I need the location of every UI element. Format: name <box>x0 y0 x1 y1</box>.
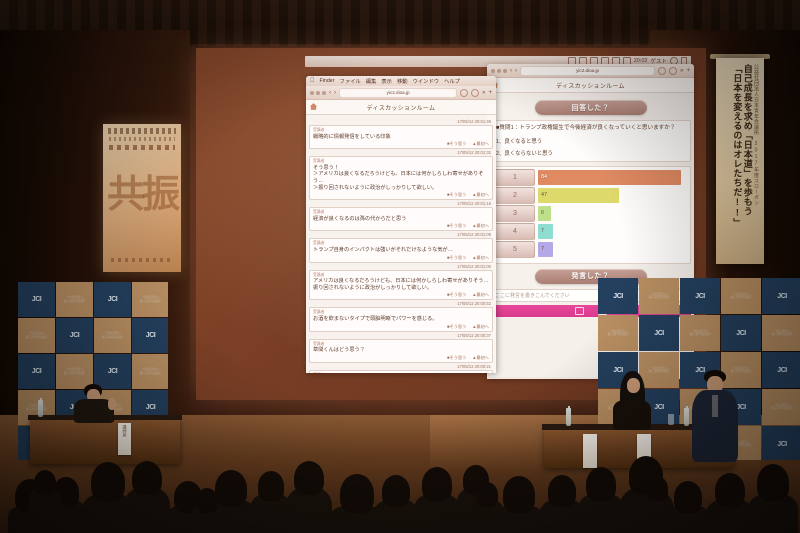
poll-page-header: ディスカッションルーム <box>487 78 694 93</box>
post-author: 受講者 <box>313 273 489 278</box>
menu-go[interactable]: 移動 <box>397 77 408 85</box>
jci-org-text: 一般社団法人 都心青年会議所 <box>140 296 161 303</box>
show-tabs-icon[interactable]: » <box>680 68 683 74</box>
address-bar-back[interactable]: yic2.dioa.jp <box>520 66 655 76</box>
jci-org-text: 一般社団法人 都心青年会議所 <box>730 367 751 374</box>
conference-hall-photo: 共振 公益社団法人日本青年会議所 2017年度スローガン 自己成長を求め「日本道… <box>0 0 800 533</box>
poll-result-row: 57 <box>495 242 686 257</box>
jci-org-tile: 一般社団法人 都心青年会議所 <box>639 278 679 314</box>
panelist-female-body <box>613 400 651 430</box>
top-link[interactable]: ▲最初へ <box>472 292 489 298</box>
discussion-post[interactable]: 受講者草間くんはどう思う？■そう思う▲最初へ <box>309 339 493 363</box>
audience-member <box>374 463 418 533</box>
poster-footer-lines <box>111 258 173 262</box>
jci-org-tile: 一般社団法人 都心青年会議所 <box>762 389 800 425</box>
discussion-post[interactable]: 受講者戦略的に情報発信をしている印象■そう思う▲最初へ <box>309 125 493 149</box>
url-text-front: yic2.dioa.jp <box>387 90 410 95</box>
water-bottle <box>38 400 43 417</box>
question-text: ■質問1：トランプ政権誕生で今後経済が良くなっていくと思いますか？ <box>496 125 685 133</box>
post-timestamp: 17/05/12 20:00:52 <box>309 301 493 306</box>
post-text: 経済が良くなるのは孫の代からだと思う <box>313 216 489 223</box>
audience-head <box>715 473 745 508</box>
post-author: 受講者 <box>313 128 489 133</box>
plus-icon[interactable]: + <box>686 68 690 74</box>
poll-result-row: 247 <box>495 188 686 203</box>
jci-org-tile: 一般社団法人 都心青年会議所 <box>18 318 55 353</box>
post-text: ＞振り回されないように政治がしっかりして欲しい。 <box>313 185 489 192</box>
poll-choice-label[interactable]: 2 <box>495 187 535 204</box>
placard-text: 講師席 <box>122 425 128 437</box>
jci-logo-tile: JCI <box>680 278 720 314</box>
poll-results-chart: 184247364757 <box>490 166 691 264</box>
plus-icon[interactable]: + <box>488 90 492 96</box>
audience-head <box>674 481 702 513</box>
jci-logo-text: JCI <box>613 367 622 374</box>
post-author: 受講者 <box>313 310 489 315</box>
top-link[interactable]: ▲最初へ <box>472 255 489 261</box>
jci-logo-tile: JCI <box>18 354 55 389</box>
jci-org-text: 一般社団法人 都心青年会議所 <box>607 330 628 337</box>
post-text: アメリカは良くなるだろうけども、日本には何かしらしわ寄せがありそう… <box>313 278 489 285</box>
jci-logo-tile: JCI <box>94 354 131 389</box>
audience-member <box>470 463 504 533</box>
banner-org-line: 公益社団法人日本青年会議所 2017年度スローガン <box>753 64 758 258</box>
post-actions[interactable]: ■そう思う▲最初へ <box>313 324 489 330</box>
jci-org-text: 一般社団法人 都心青年会議所 <box>64 296 85 303</box>
browser-toolbar-back[interactable]: ‹ › yic2.dioa.jp » + <box>487 64 694 78</box>
jci-logo-text: JCI <box>613 293 622 300</box>
audience-head <box>757 464 789 501</box>
audience-member <box>286 463 332 533</box>
address-bar-front[interactable]: yic2.dioa.jp <box>339 88 457 98</box>
maximize-icon[interactable] <box>322 91 326 95</box>
agree-link[interactable]: ■そう思う <box>447 141 466 147</box>
poll-result-value: 6 <box>541 210 544 216</box>
jci-logo-text: JCI <box>146 332 155 339</box>
audience-member <box>414 463 460 533</box>
top-link[interactable]: ▲最初へ <box>472 141 489 147</box>
jci-org-tile: 一般社団法人 都心青年会議所 <box>639 352 679 388</box>
reload-icon[interactable] <box>460 89 468 97</box>
share-icon[interactable] <box>669 67 677 75</box>
jci-org-text: 一般社団法人 都心青年会議所 <box>102 332 123 339</box>
minimize-icon[interactable] <box>497 69 501 73</box>
option-2[interactable]: 2、良くならないと思う <box>496 149 685 157</box>
jci-logo-text: JCI <box>146 404 155 411</box>
window-controls-back[interactable] <box>491 69 507 73</box>
comment-input-placeholder: ここに発言を書きこんでください <box>495 292 570 299</box>
post-actions[interactable]: ■そう思う▲最初へ <box>313 141 489 147</box>
post-text: トランプ自身のインパクトは強いがそれだけなような気が… <box>313 247 489 254</box>
jci-org-tile: 一般社団法人 都心青年会議所 <box>132 354 168 389</box>
poll-result-row: 47 <box>495 224 686 239</box>
poll-choice-number: 3 <box>513 210 517 217</box>
show-tabs-icon[interactable]: » <box>482 90 485 96</box>
jci-logo-tile: JCI <box>56 318 93 353</box>
agree-link[interactable]: ■そう思う <box>447 292 466 298</box>
discussion-post[interactable]: 受講者お酒を飲まないタイプで頭脳明晰でパワーを感じる。■そう思う▲最初へ <box>309 307 493 331</box>
menu-window[interactable]: ウインドウ <box>413 77 440 85</box>
poll-result-row: 36 <box>495 206 686 221</box>
poll-result-value: 7 <box>541 228 544 234</box>
forward-icon[interactable]: › <box>515 68 517 74</box>
poll-choice-number: 4 <box>513 228 517 235</box>
poster-header-lines <box>108 128 176 134</box>
discussion-page-header: ディスカッションルーム <box>306 100 496 115</box>
discussion-post-list[interactable]: 17/05/12 20:01:49受講者戦略的に情報発信をしている印象■そう思う… <box>306 115 496 373</box>
jci-logo-tile: JCI <box>762 278 800 314</box>
top-link[interactable]: ▲最初へ <box>472 223 489 229</box>
banner-slogan-1: 自己成長を求め「日本道」を歩もう <box>742 64 751 258</box>
water-bottle <box>566 408 571 426</box>
post-author: 受講者 <box>313 241 489 246</box>
post-timestamp: 17/05/12 20:01:09 <box>309 232 493 237</box>
jci-org-tile: 一般社団法人 都心青年会議所 <box>94 318 131 353</box>
jci-org-text: 一般社団法人 都心青年会議所 <box>771 404 792 411</box>
back-icon[interactable]: ‹ <box>329 90 331 96</box>
jci-org-tile: 一般社団法人 都心青年会議所 <box>56 282 93 317</box>
audience-member <box>28 463 62 533</box>
jci-logo-text: JCI <box>777 293 786 300</box>
maximize-icon[interactable] <box>503 69 507 73</box>
presenter-hand <box>108 398 116 410</box>
jci-logo-text: JCI <box>108 296 117 303</box>
post-actions[interactable]: ■そう思う▲最初へ <box>313 255 489 261</box>
audience-head <box>382 475 410 507</box>
jci-logo-text: JCI <box>695 293 704 300</box>
jci-org-text: 一般社団法人 都心青年会議所 <box>648 367 669 374</box>
post-timestamp: 17/05/12 20:01:49 <box>309 119 493 124</box>
post-timestamp: 17/05/12 20:01:18 <box>309 201 493 206</box>
discussion-post[interactable]: 受講者アメリカは良くなるだろうけども、日本には何かしらしわ寄せがありそう…振り回… <box>309 270 493 301</box>
post-text: ＞アメリカは良くなるだろうけども、日本には何かしらしわ寄せがありそう… <box>313 171 489 184</box>
post-text: お酒を飲まないタイプで頭脳明晰でパワーを感じる。 <box>313 316 489 323</box>
minimize-icon[interactable] <box>316 91 320 95</box>
post-actions[interactable]: ■そう思う▲最初へ <box>313 192 489 198</box>
left-poster: 共振 <box>103 124 181 272</box>
panelist-female-face <box>627 378 640 393</box>
audience-head <box>34 470 56 495</box>
audience-head <box>548 475 576 507</box>
audience-head <box>91 462 125 501</box>
answered-button[interactable]: 回答した？ <box>535 100 647 115</box>
audience-head <box>132 461 162 496</box>
jci-logo-tile: JCI <box>639 315 679 351</box>
post-timestamp: 17/05/12 20:00:37 <box>309 333 493 338</box>
post-timestamp: 17/05/12 20:01:00 <box>309 264 493 269</box>
audience-head <box>258 471 284 501</box>
jci-logo-text: JCI <box>32 368 41 375</box>
poll-result-bar: 7 <box>538 224 553 239</box>
slogan-banner: 公益社団法人日本青年会議所 2017年度スローガン 自己成長を求め「日本道」を歩… <box>716 58 764 264</box>
speaker-table <box>30 418 180 464</box>
post-text: 振り回されないように政治がしっかりして欲しい。 <box>313 285 489 292</box>
audience-head <box>196 488 218 513</box>
window-controls-front[interactable] <box>310 91 326 95</box>
poll-choice-label[interactable]: 5 <box>495 241 535 258</box>
discussion-post[interactable]: 受講者経済が良くなるのは孫の代からだと思う■そう思う▲最初へ <box>309 207 493 231</box>
jci-logo-tile: JCI <box>598 278 638 314</box>
poll-choice-label[interactable]: 1 <box>495 169 535 186</box>
jci-org-tile: 一般社団法人 都心青年会議所 <box>56 354 93 389</box>
app-menubar[interactable]:  Finder ファイル 編集 表示 移動 ウインドウ ヘルプ <box>306 76 496 86</box>
post-author: 受講者 <box>313 342 489 347</box>
poll-page-title: ディスカッションルーム <box>556 81 625 90</box>
audience-head <box>476 482 498 507</box>
audience-head <box>422 467 452 502</box>
share-icon[interactable] <box>471 89 479 97</box>
agree-link[interactable]: ■そう思う <box>447 223 466 229</box>
jci-org-text: 一般社団法人 都心青年会議所 <box>64 368 85 375</box>
post-actions[interactable]: ■そう思う▲最初へ <box>313 223 489 229</box>
camera-icon[interactable] <box>575 307 584 315</box>
jci-logo-text: JCI <box>777 367 786 374</box>
poll-result-value: 84 <box>541 174 547 180</box>
water-bottle <box>684 408 689 426</box>
menu-view[interactable]: 表示 <box>381 77 392 85</box>
audience-head <box>340 474 374 513</box>
forward-icon[interactable]: › <box>334 90 336 96</box>
poll-result-bar: 47 <box>538 188 619 203</box>
post-timestamp: 17/05/12 20:01:32 <box>309 150 493 155</box>
jci-org-tile: 一般社団法人 都心青年会議所 <box>721 352 761 388</box>
poll-result-bar: 6 <box>538 206 551 221</box>
agree-link[interactable]: ■そう思う <box>447 192 466 198</box>
poll-result-bar: 7 <box>538 242 553 257</box>
jci-org-tile: 一般社団法人 都心青年会議所 <box>680 315 720 351</box>
jci-org-tile: 一般社団法人 都心青年会議所 <box>721 278 761 314</box>
poll-choice-label[interactable]: 4 <box>495 223 535 240</box>
browser-toolbar-front[interactable]: ‹ › yic2.dioa.jp » + <box>306 86 496 100</box>
jci-logo-text: JCI <box>777 441 786 448</box>
agree-link[interactable]: ■そう思う <box>447 255 466 261</box>
panelist-male-tie <box>712 395 718 417</box>
jci-logo-text: JCI <box>70 332 79 339</box>
jci-logo-tile: JCI <box>18 282 55 317</box>
audience-member <box>706 463 754 533</box>
post-text: 戦略的に情報発信をしている印象 <box>313 134 489 141</box>
browser-window-discussion[interactable]:  Finder ファイル 編集 表示 移動 ウインドウ ヘルプ ‹ › yic… <box>306 76 496 373</box>
jci-org-text: 一般社団法人 都心青年会議所 <box>26 332 47 339</box>
jci-org-tile: 一般社団法人 都心青年会議所 <box>598 315 638 351</box>
poll-choice-number: 1 <box>513 174 517 181</box>
drinking-glass <box>668 414 674 425</box>
audience-member <box>748 463 798 533</box>
jci-org-text: 一般社団法人 都心青年会議所 <box>689 330 710 337</box>
audience-head <box>646 476 668 501</box>
jci-org-text: 一般社団法人 都心青年会議所 <box>730 293 751 300</box>
top-link[interactable]: ▲最初へ <box>472 355 489 361</box>
poll-result-bar: 84 <box>538 170 681 185</box>
poster-title-lines <box>109 145 175 150</box>
poster-kanji: 共振 <box>103 176 181 214</box>
poll-result-row: 184 <box>495 170 686 185</box>
audience-member <box>578 463 624 533</box>
back-icon[interactable]: ‹ <box>510 68 512 74</box>
url-text-back: yic2.dioa.jp <box>576 68 599 73</box>
discussion-post[interactable]: 受講者そう思う！＞北朝鮮を黙らせてほしい■そう思う▲最初へ <box>309 370 493 373</box>
post-timestamp: 17/05/12 20:00:21 <box>309 364 493 369</box>
banner-slogan-2: 「日本を変えるのはオレたちだ!!」 <box>732 64 741 258</box>
discussion-post[interactable]: 受講者そう思う！＞アメリカは良くなるだろうけども、日本には何かしらしわ寄せがあり… <box>309 156 493 200</box>
jci-logo-text: JCI <box>695 367 704 374</box>
jci-logo-tile: JCI <box>721 315 761 351</box>
question-box: ■質問1：トランプ政権誕生で今後経済が良くなっていくと思いますか？ 1、良くなる… <box>490 120 691 162</box>
agree-link[interactable]: ■そう思う <box>447 355 466 361</box>
answered-button-label: 回答した？ <box>572 103 610 113</box>
jci-logo-text: JCI <box>736 330 745 337</box>
jci-logo-tile: JCI <box>762 352 800 388</box>
discussion-post[interactable]: 受講者トランプ自身のインパクトは強いがそれだけなような気が…■そう思う▲最初へ <box>309 238 493 262</box>
jci-org-tile: 一般社団法人 都心青年会議所 <box>762 315 800 351</box>
discussion-page-title: ディスカッションルーム <box>367 103 436 112</box>
poster-subline <box>109 137 175 141</box>
top-link[interactable]: ▲最初へ <box>472 192 489 198</box>
post-actions[interactable]: ■そう思う▲最初へ <box>313 355 489 361</box>
jci-logo-tile: JCI <box>132 318 168 353</box>
jci-logo-text: JCI <box>108 368 117 375</box>
top-link[interactable]: ▲最初へ <box>472 324 489 330</box>
close-icon[interactable] <box>491 69 495 73</box>
close-icon[interactable] <box>310 91 314 95</box>
poll-result-value: 47 <box>541 192 547 198</box>
reload-icon[interactable] <box>658 67 666 75</box>
post-text: 草間くんはどう思う？ <box>313 347 489 354</box>
poll-choice-number: 2 <box>513 192 517 199</box>
jci-org-text: 一般社団法人 都心青年会議所 <box>771 330 792 337</box>
post-actions[interactable]: ■そう思う▲最初へ <box>313 292 489 298</box>
jci-org-text: 一般社団法人 都心青年会議所 <box>140 368 161 375</box>
audience-member <box>190 463 224 533</box>
poll-choice-number: 5 <box>513 246 517 253</box>
menu-help[interactable]: ヘルプ <box>444 77 460 85</box>
jci-logo-tile: JCI <box>94 282 131 317</box>
menu-edit[interactable]: 編集 <box>366 77 377 85</box>
jci-logo-text: JCI <box>654 330 663 337</box>
poll-result-value: 7 <box>541 246 544 252</box>
audience-head <box>503 476 535 513</box>
audience-member <box>640 463 674 533</box>
jci-logo-text: JCI <box>654 404 663 411</box>
jci-logo-text: JCI <box>32 296 41 303</box>
audience-member <box>124 463 170 533</box>
jci-org-text: 一般社団法人 都心青年会議所 <box>648 293 669 300</box>
jci-logo-tile: JCI <box>762 426 800 460</box>
home-icon[interactable] <box>309 102 318 111</box>
audience-head <box>294 461 324 496</box>
jci-org-text: 一般社団法人 都心青年会議所 <box>26 404 47 411</box>
menu-finder[interactable]: Finder <box>320 78 335 84</box>
apple-menu-icon[interactable]:  <box>310 78 315 84</box>
menu-file[interactable]: ファイル <box>340 77 361 85</box>
post-author: 受講者 <box>313 159 489 164</box>
agree-link[interactable]: ■そう思う <box>447 324 466 330</box>
option-1[interactable]: 1、良くなると思う <box>496 137 685 145</box>
poll-choice-label[interactable]: 3 <box>495 205 535 222</box>
jci-org-tile: 一般社団法人 都心青年会議所 <box>132 282 168 317</box>
name-placard: 講師席 <box>118 423 131 455</box>
post-author: 受講者 <box>313 210 489 215</box>
audience-head <box>586 467 616 502</box>
